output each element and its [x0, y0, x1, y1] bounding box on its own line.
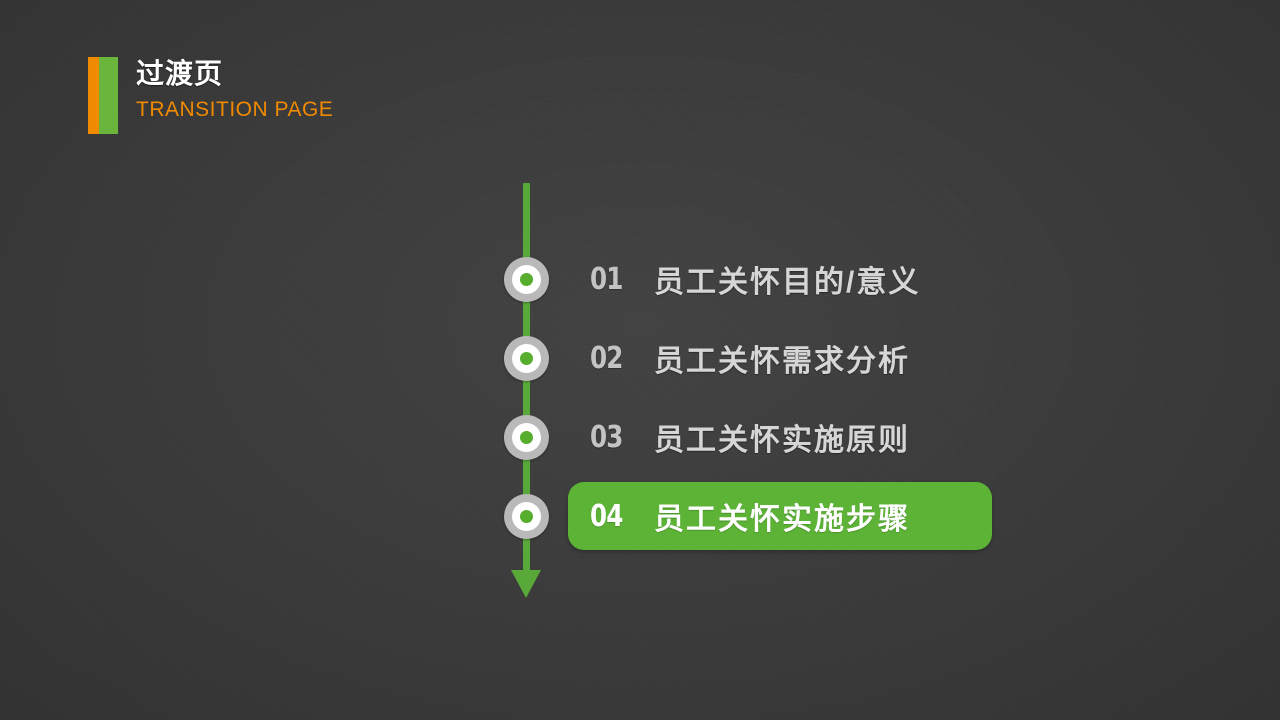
- timeline-marker-inner: [512, 423, 541, 452]
- timeline-marker-icon: [504, 415, 549, 460]
- timeline-marker-inner: [512, 265, 541, 294]
- timeline-marker-inner: [512, 344, 541, 373]
- timeline-item-label: 员工关怀目的/意义: [654, 257, 920, 301]
- timeline-arrow-down-icon: [511, 570, 541, 598]
- timeline: 01 员工关怀目的/意义 02 员工关怀需求分析: [0, 0, 1280, 720]
- timeline-item-content[interactable]: 03 员工关怀实施原则: [568, 411, 932, 463]
- timeline-marker-inner: [512, 502, 541, 531]
- timeline-item-number: 02: [590, 341, 626, 376]
- timeline-item-label: 员工关怀实施原则: [654, 415, 910, 459]
- timeline-item-number: 03: [590, 420, 626, 455]
- timeline-item-number: 01: [590, 262, 626, 297]
- timeline-marker-dot: [520, 352, 533, 365]
- timeline-item-content-active[interactable]: 04 员工关怀实施步骤: [568, 482, 992, 550]
- timeline-item-label: 员工关怀实施步骤: [654, 494, 910, 538]
- timeline-marker-icon: [504, 257, 549, 302]
- timeline-marker-icon: [504, 494, 549, 539]
- slide-canvas: 过渡页 TRANSITION PAGE 01 员工关怀目的/意义: [0, 0, 1280, 720]
- timeline-marker-dot: [520, 273, 533, 286]
- timeline-marker-dot: [520, 431, 533, 444]
- timeline-item-content[interactable]: 02 员工关怀需求分析: [568, 332, 932, 384]
- timeline-item-label: 员工关怀需求分析: [654, 336, 910, 380]
- timeline-item-number: 04: [590, 499, 626, 534]
- timeline-marker-dot: [520, 510, 533, 523]
- timeline-item-content[interactable]: 01 员工关怀目的/意义: [568, 253, 942, 305]
- timeline-marker-icon: [504, 336, 549, 381]
